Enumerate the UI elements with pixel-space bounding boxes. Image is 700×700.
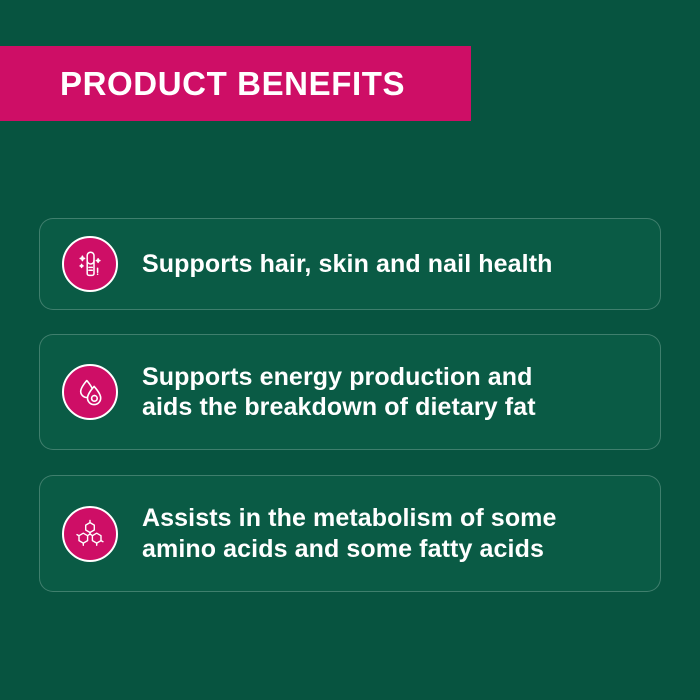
benefit-card: Supports hair, skin and nail health — [39, 218, 661, 310]
product-benefits-panel: PRODUCT BENEFITS Supports hair, — [0, 0, 700, 700]
benefit-text: Supports hair, skin and nail health — [142, 249, 553, 280]
benefit-text: Supports energy production and aids the … — [142, 362, 536, 423]
benefit-text: Assists in the metabolism of some amino … — [142, 503, 557, 564]
page-title: PRODUCT BENEFITS — [0, 67, 405, 100]
benefits-list: Supports hair, skin and nail health Supp… — [39, 218, 661, 592]
benefit-card: Assists in the metabolism of some amino … — [39, 475, 661, 592]
droplets-icon — [62, 364, 118, 420]
benefit-card: Supports energy production and aids the … — [39, 334, 661, 450]
molecule-hexagons-icon — [62, 506, 118, 562]
header-banner: PRODUCT BENEFITS — [0, 46, 471, 121]
fingernail-sparkle-icon — [62, 236, 118, 292]
